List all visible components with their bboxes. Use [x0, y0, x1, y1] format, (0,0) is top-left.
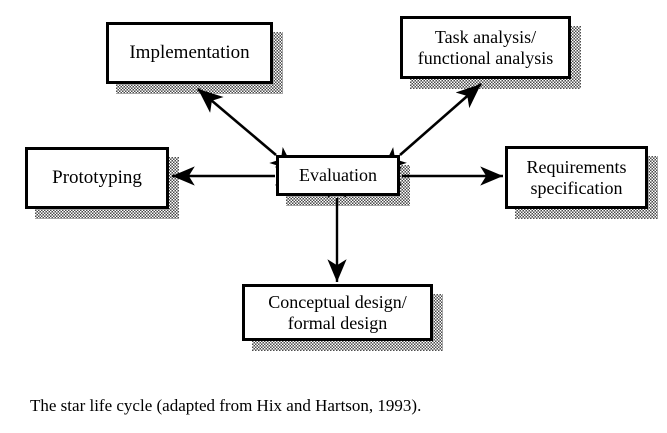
- node-label-evaluation: Evaluation: [295, 165, 381, 185]
- node-label-requirements-specification: Requirements specification: [523, 157, 631, 197]
- node-implementation[interactable]: Implementation: [106, 22, 273, 84]
- figure-caption: The star life cycle (adapted from Hix an…: [30, 396, 421, 416]
- node-label-prototyping: Prototyping: [48, 167, 146, 188]
- node-conceptual-design[interactable]: Conceptual design/ formal design: [242, 284, 433, 341]
- connector-evaluation-implementation: [198, 89, 276, 155]
- node-evaluation[interactable]: Evaluation: [276, 155, 400, 196]
- diagram-canvas: Implementation Task analysis/ functional…: [0, 0, 667, 433]
- node-label-implementation: Implementation: [125, 42, 253, 63]
- node-requirements-specification[interactable]: Requirements specification: [505, 146, 648, 209]
- node-task-analysis[interactable]: Task analysis/ functional analysis: [400, 16, 571, 79]
- node-label-task-analysis: Task analysis/ functional analysis: [414, 27, 557, 67]
- node-prototyping[interactable]: Prototyping: [25, 147, 169, 209]
- node-label-conceptual-design: Conceptual design/ formal design: [264, 292, 410, 332]
- connector-evaluation-task-analysis: [400, 84, 481, 155]
